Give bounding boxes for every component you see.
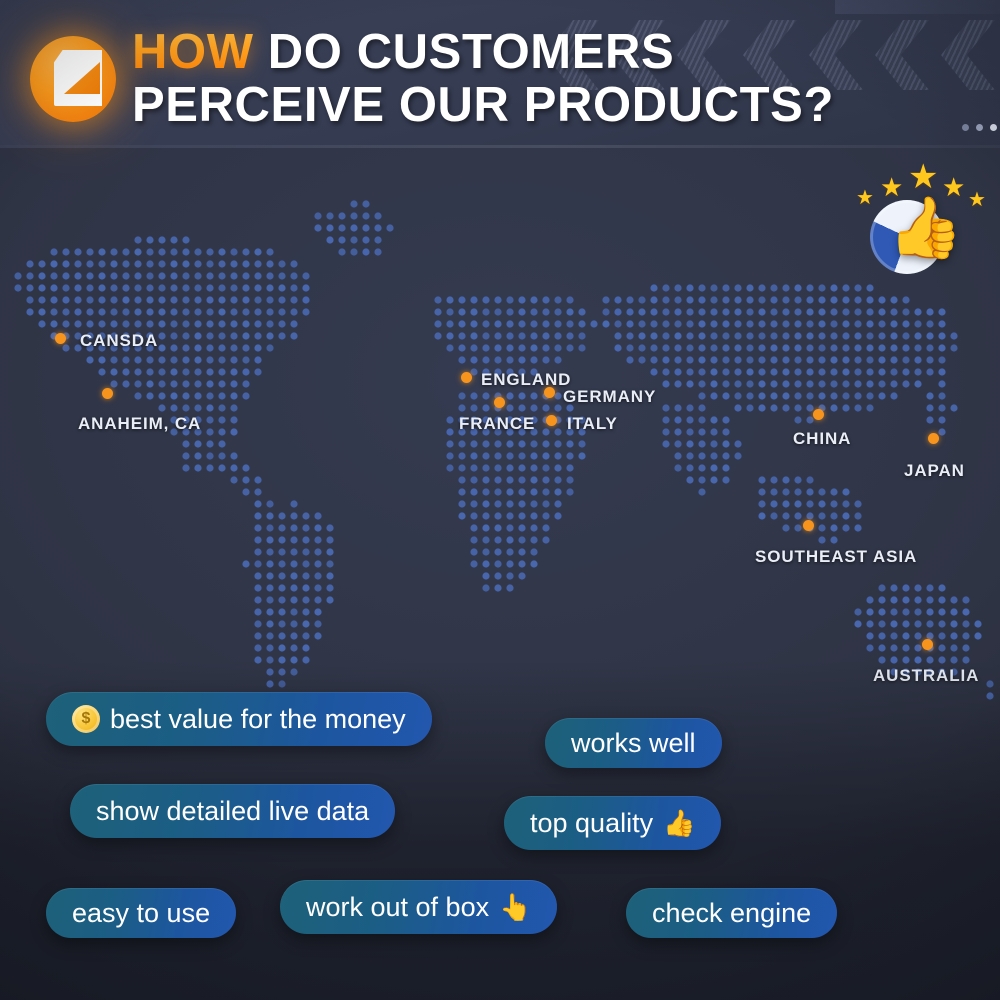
pill-label: easy to use (72, 898, 210, 929)
map-pin-anaheim-ca[interactable] (102, 388, 113, 399)
pointing-up-icon: 👆 (499, 894, 531, 920)
title-line-1-rest: DO CUSTOMERS (268, 25, 675, 79)
pill-label: top quality (530, 808, 653, 839)
map-label-cansda: CANSDA (80, 331, 158, 351)
map-label-australia: AUSTRALIA (873, 666, 979, 686)
map-label-china: CHINA (793, 429, 851, 449)
map-label-japan: JAPAN (904, 461, 965, 481)
map-label-germany: GERMANY (563, 387, 656, 407)
header-top-strip (835, 0, 1000, 14)
header-dot-3 (990, 124, 997, 131)
map-pin-australia[interactable] (922, 639, 933, 650)
world-map: CANSDAANAHEIM, CAENGLANDGERMANYFRANCEITA… (0, 150, 1000, 710)
map-label-france: FRANCE (459, 414, 535, 434)
pill-label: work out of box (306, 892, 489, 923)
feedback-pill-work-out-of-box[interactable]: work out of box👆 (280, 880, 557, 934)
pill-label: show detailed live data (96, 796, 369, 827)
header-bottom-edge (0, 145, 1000, 148)
map-pin-italy[interactable] (546, 415, 557, 426)
map-label-italy: ITALY (567, 414, 618, 434)
header-dots-decoration (962, 124, 997, 131)
header-dot-2 (976, 124, 983, 131)
feedback-pill-check-engine[interactable]: check engine (626, 888, 837, 938)
feedback-pill-easy-to-use[interactable]: easy to use (46, 888, 236, 938)
map-pin-cansda[interactable] (55, 333, 66, 344)
pill-label: works well (571, 728, 696, 759)
map-label-anaheim-ca: ANAHEIM, CA (78, 414, 201, 434)
pill-label: best value for the money (110, 704, 406, 735)
title-highlight-word: HOW (132, 25, 254, 79)
header-dot-1 (962, 124, 969, 131)
feedback-pill-works-well[interactable]: works well (545, 718, 722, 768)
brand-logo-icon (30, 36, 116, 122)
map-pin-england[interactable] (461, 372, 472, 383)
map-pin-france[interactable] (494, 397, 505, 408)
pill-label: check engine (652, 898, 811, 929)
map-label-england: ENGLAND (481, 370, 571, 390)
infographic-canvas: HOW DO CUSTOMERS PERCEIVE OUR PRODUCTS? … (0, 0, 1000, 1000)
map-pin-southeast-asia[interactable] (803, 520, 814, 531)
page-title: HOW DO CUSTOMERS PERCEIVE OUR PRODUCTS? (132, 26, 952, 132)
map-pin-china[interactable] (813, 409, 824, 420)
map-label-southeast-asia: SOUTHEAST ASIA (755, 547, 917, 567)
map-pin-germany[interactable] (544, 387, 555, 398)
feedback-pill-best-value-for-the-money[interactable]: $best value for the money (46, 692, 432, 746)
feedback-pill-top-quality[interactable]: top quality👍 (504, 796, 721, 850)
map-pin-japan[interactable] (928, 433, 939, 444)
coin-icon: $ (72, 705, 100, 733)
thumbs-up-icon: 👍 (663, 810, 695, 836)
title-line-2: PERCEIVE OUR PRODUCTS? (132, 79, 952, 132)
feedback-pill-show-detailed-live-data[interactable]: show detailed live data (70, 784, 395, 838)
